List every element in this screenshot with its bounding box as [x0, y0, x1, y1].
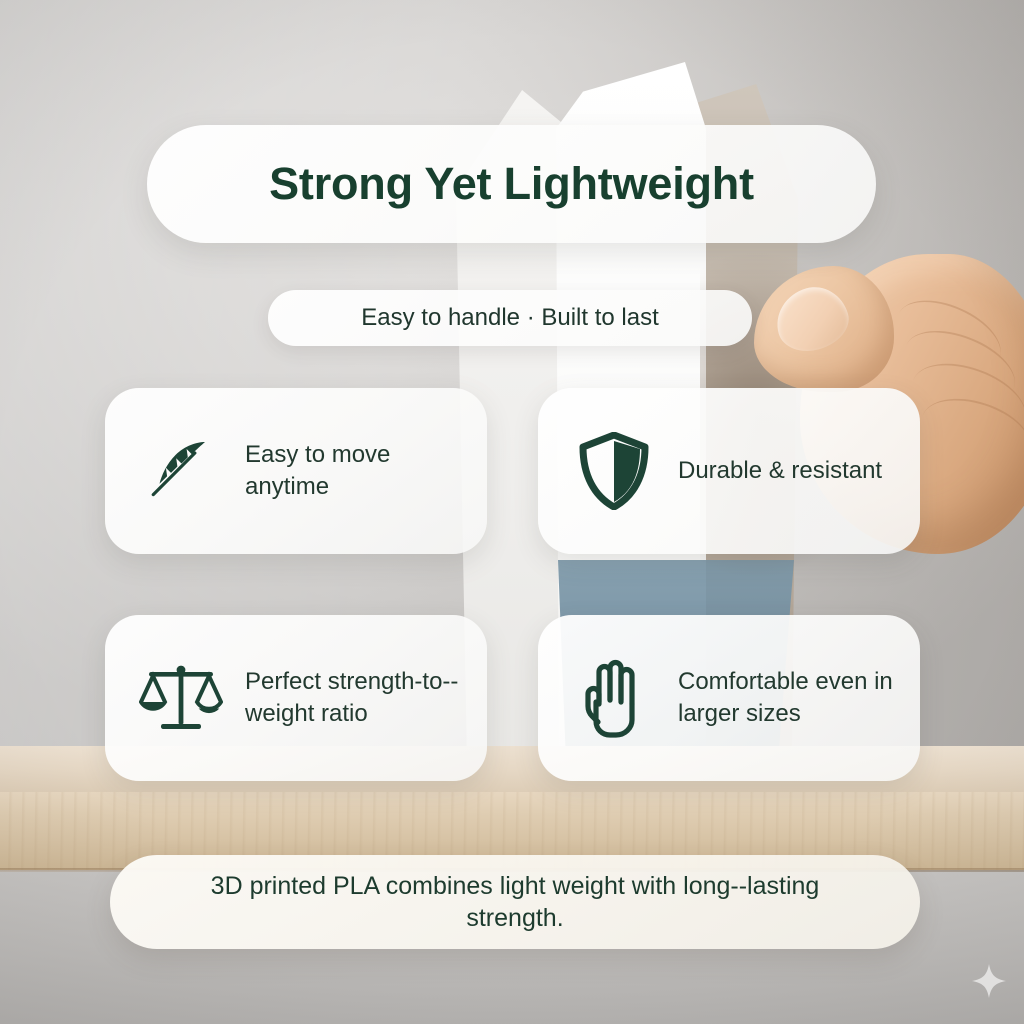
open-hand-icon — [572, 656, 656, 740]
feature-label: Easy to move anytime — [245, 439, 465, 503]
feature-label: Perfect strength-to--weight ratio — [245, 666, 465, 730]
footer-banner: 3D printed PLA combines light weight wit… — [110, 855, 920, 949]
infographic-scene: Strong Yet Lightweight Easy to handle · … — [0, 0, 1024, 1024]
scales-icon — [139, 656, 223, 740]
feature-card-easy-to-move[interactable]: Easy to move anytime — [105, 388, 487, 554]
feature-card-durable[interactable]: Durable & resistant — [538, 388, 920, 554]
overlay-ui: Strong Yet Lightweight Easy to handle · … — [0, 0, 1024, 1024]
footer-text: 3D printed PLA combines light weight wit… — [165, 870, 865, 935]
feature-card-strength-to-weight[interactable]: Perfect strength-to--weight ratio — [105, 615, 487, 781]
feature-card-comfortable[interactable]: Comfortable even in larger sizes — [538, 615, 920, 781]
feature-label: Durable & resistant — [678, 455, 882, 487]
shield-icon — [572, 429, 656, 513]
feather-icon — [139, 429, 223, 513]
feature-label: Comfortable even in larger sizes — [678, 666, 898, 730]
sparkle-icon — [972, 964, 1006, 998]
